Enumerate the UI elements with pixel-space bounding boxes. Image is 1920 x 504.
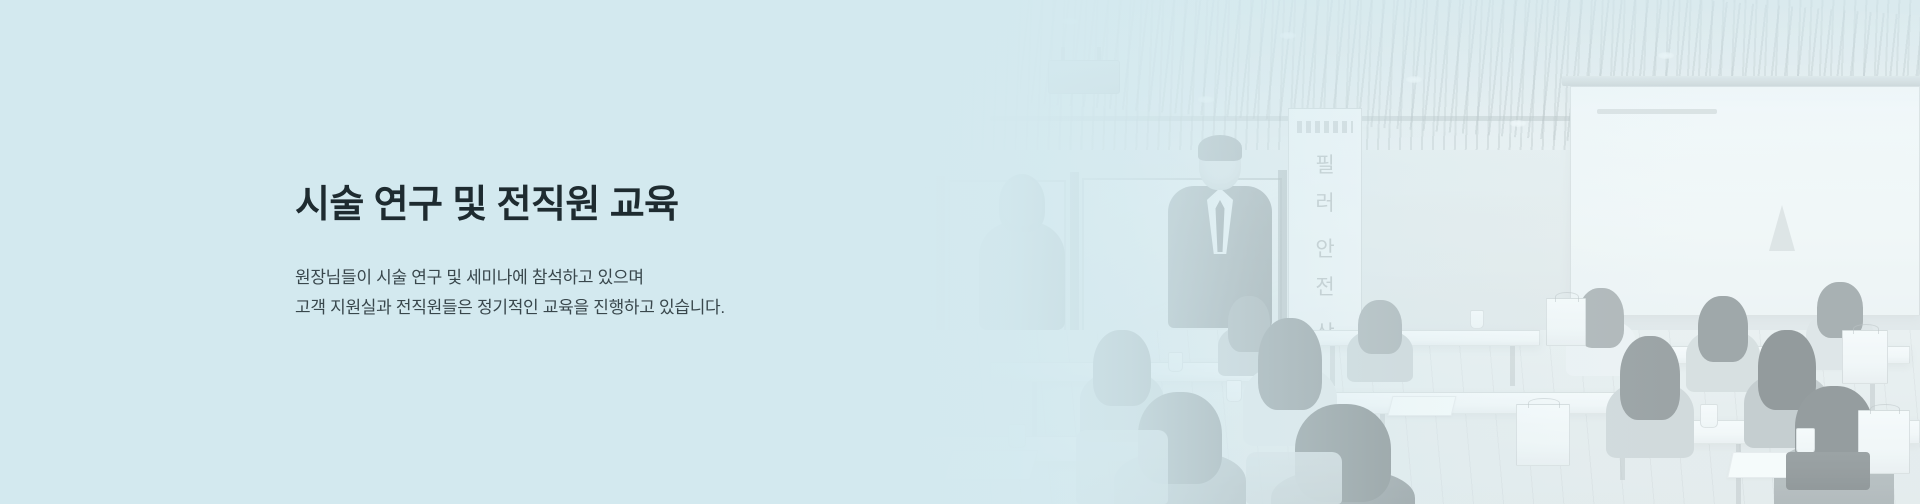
- banner-content: 시술 연구 및 전직원 교육 원장님들이 시술 연구 및 세미나에 참석하고 있…: [295, 0, 1055, 504]
- banner-description: 원장님들이 시술 연구 및 세미나에 참석하고 있으며 고객 지원실과 전직원들…: [295, 263, 1055, 323]
- page-banner: 필 러 안 전 상 담: [0, 0, 1920, 504]
- description-line-1: 원장님들이 시술 연구 및 세미나에 참석하고 있으며: [295, 263, 1055, 293]
- description-line-2: 고객 지원실과 전직원들은 정기적인 교육을 진행하고 있습니다.: [295, 293, 1055, 323]
- page-title: 시술 연구 및 전직원 교육: [295, 182, 1055, 230]
